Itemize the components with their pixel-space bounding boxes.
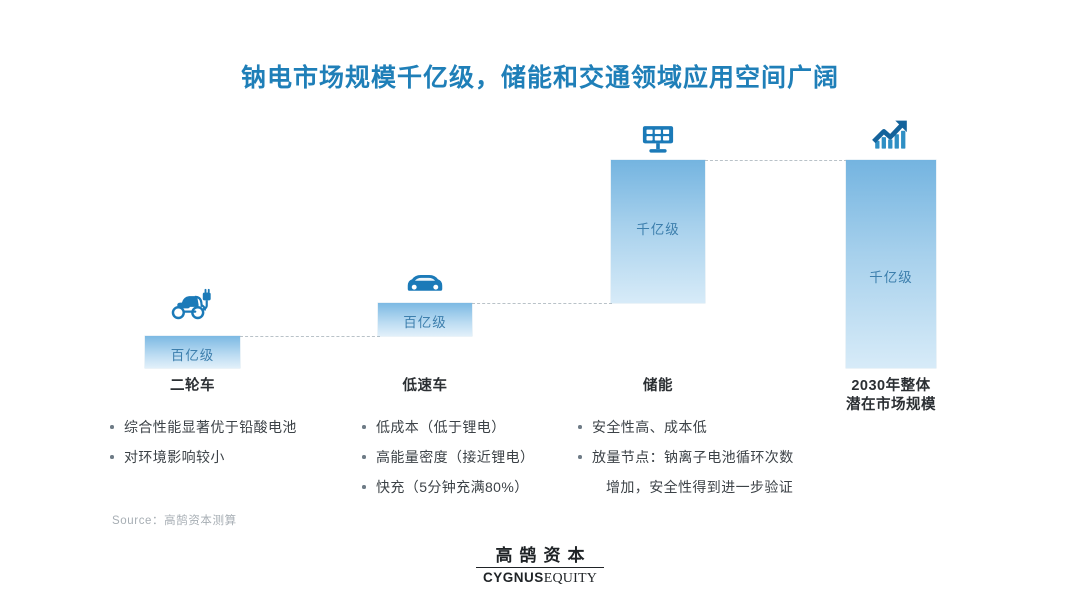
logo-english-name: CYGNUSEQUITY: [0, 570, 1080, 587]
logo-chinese-name: 高鹄资本: [0, 546, 1080, 566]
electric-scooter-icon: [169, 283, 215, 325]
source-note: Source：高鹄资本测算: [112, 512, 237, 528]
list-item: 安全性高、成本低: [576, 412, 866, 442]
bar-category-total-2030-line2: 潜在市场规模: [846, 397, 936, 413]
bullet-dot-icon: [362, 425, 366, 429]
bullet-dot-icon: [110, 455, 114, 459]
bar-group-two-wheeler: 百亿级 二轮车: [145, 0, 240, 400]
bullet-text-continued: 增加，安全性得到进一步验证: [592, 472, 866, 502]
bar-group-total-2030: 千亿级 2030年整体 潜在市场规模: [846, 0, 936, 400]
connector-3: [705, 160, 847, 161]
list-item: 放量节点：钠离子电池循环次数 增加，安全性得到进一步验证: [576, 442, 866, 502]
stair-bar-chart: 百亿级 二轮车 百亿级 低速车: [0, 0, 1080, 400]
bullet-column-low-speed-vehicle: 低成本（低于锂电） 高能量密度（接近锂电） 快充（5分钟充满80%）: [360, 412, 590, 502]
bar-category-two-wheeler: 二轮车: [145, 377, 240, 396]
connector-1: [240, 336, 380, 337]
connector-2: [472, 303, 612, 304]
bar-group-energy-storage: 千亿级 储能: [611, 0, 705, 400]
bullet-text: 综合性能显著优于铅酸电池: [124, 419, 297, 435]
car-icon: [402, 264, 448, 306]
bullet-text: 低成本（低于锂电）: [376, 419, 506, 435]
bullet-dot-icon: [362, 485, 366, 489]
bullet-text: 对环境影响较小: [124, 449, 225, 465]
bullet-dot-icon: [362, 455, 366, 459]
bullet-text: 安全性高、成本低: [592, 419, 707, 435]
bullet-column-energy-storage: 安全性高、成本低 放量节点：钠离子电池循环次数 增加，安全性得到进一步验证: [576, 412, 866, 502]
bar-category-total-2030-line1: 2030年整体: [851, 378, 930, 394]
list-item: 低成本（低于锂电）: [360, 412, 590, 442]
bar-value-label-low-speed-vehicle: 百亿级: [378, 311, 472, 331]
growth-chart-icon: [868, 114, 914, 156]
list-item: 对环境影响较小: [108, 442, 358, 472]
bar-group-low-speed-vehicle: 百亿级 低速车: [378, 0, 472, 400]
bar-category-energy-storage: 储能: [611, 377, 705, 396]
logo-divider: [476, 567, 604, 568]
list-item: 综合性能显著优于铅酸电池: [108, 412, 358, 442]
list-item: 快充（5分钟充满80%）: [360, 472, 590, 502]
solar-panel-icon: [635, 118, 681, 160]
bar-value-label-two-wheeler: 百亿级: [145, 344, 240, 364]
bullet-text: 放量节点：钠离子电池循环次数: [592, 449, 794, 465]
bullet-column-two-wheeler: 综合性能显著优于铅酸电池 对环境影响较小: [108, 412, 358, 472]
bullet-dot-icon: [578, 455, 582, 459]
bar-total-2030: [846, 160, 936, 368]
bullet-text: 快充（5分钟充满80%）: [376, 479, 529, 495]
logo-english-bold: CYGNUS: [483, 570, 544, 585]
bar-category-total-2030: 2030年整体 潜在市场规模: [846, 377, 936, 415]
bullet-dot-icon: [110, 425, 114, 429]
logo-english-light: EQUITY: [544, 571, 597, 586]
bar-value-label-total-2030: 千亿级: [846, 266, 936, 286]
list-item: 高能量密度（接近锂电）: [360, 442, 590, 472]
bullet-text: 高能量密度（接近锂电）: [376, 449, 534, 465]
company-logo: 高鹄资本 CYGNUSEQUITY: [0, 546, 1080, 587]
slide-root: 钠电市场规模千亿级，储能和交通领域应用空间广阔: [0, 0, 1080, 608]
bullet-dot-icon: [578, 425, 582, 429]
bar-category-low-speed-vehicle: 低速车: [378, 377, 472, 396]
bar-value-label-energy-storage: 千亿级: [611, 218, 705, 238]
